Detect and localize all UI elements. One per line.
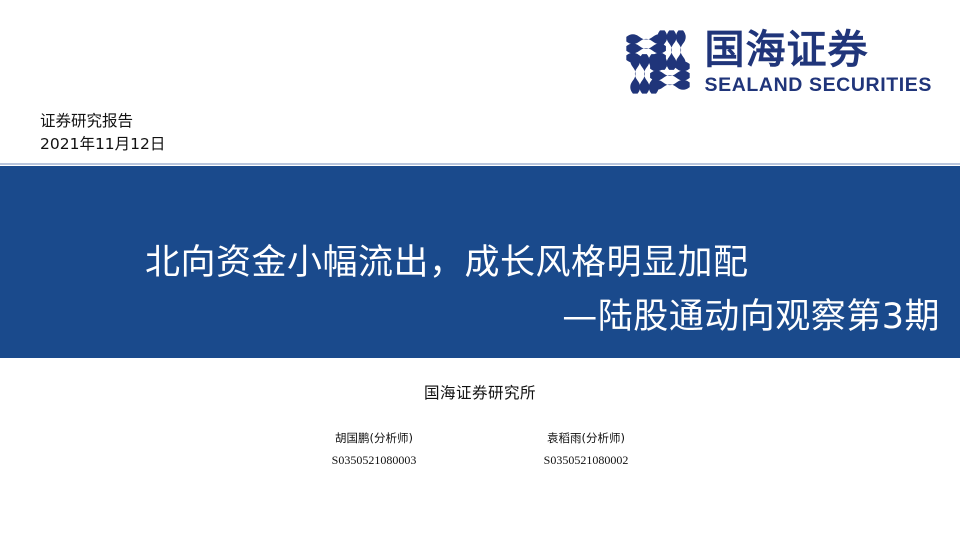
sealand-pinwheel-logo-icon	[625, 29, 691, 95]
analyst-name: 胡国鹏(分析师)	[299, 430, 449, 447]
report-title-line-1: 北向资金小幅流出，成长风格明显加配	[145, 238, 749, 288]
analyst-entry: 袁稻雨(分析师) S0350521080002	[511, 430, 661, 470]
brand-name-english: SEALAND SECURITIES	[705, 74, 933, 97]
analyst-list: 胡国鹏(分析师) S0350521080003 袁稻雨(分析师) S035052…	[0, 430, 960, 470]
brand-text-lockup: 国海证券 SEALAND SECURITIES	[705, 26, 933, 97]
analyst-license-code: S0350521080003	[299, 451, 449, 470]
header-divider	[0, 163, 960, 165]
analyst-name: 袁稻雨(分析师)	[511, 430, 661, 447]
report-date: 2021年11月12日	[40, 133, 165, 156]
analyst-entry: 胡国鹏(分析师) S0350521080003	[299, 430, 449, 470]
report-meta: 证券研究报告 2021年11月12日	[40, 110, 165, 156]
report-subtitle-line-2: —陆股通动向观察第3期	[0, 292, 940, 342]
institute-name: 国海证券研究所	[0, 382, 960, 404]
brand-name-chinese: 国海证券	[705, 28, 869, 72]
analyst-license-code: S0350521080002	[511, 451, 661, 470]
report-type-label: 证券研究报告	[40, 110, 165, 133]
report-cover-slide: 国海证券 SEALAND SECURITIES 证券研究报告 2021年11月1…	[0, 0, 960, 540]
brand-lockup: 国海证券 SEALAND SECURITIES	[625, 26, 933, 97]
cover-header: 国海证券 SEALAND SECURITIES 证券研究报告 2021年11月1…	[0, 0, 960, 166]
